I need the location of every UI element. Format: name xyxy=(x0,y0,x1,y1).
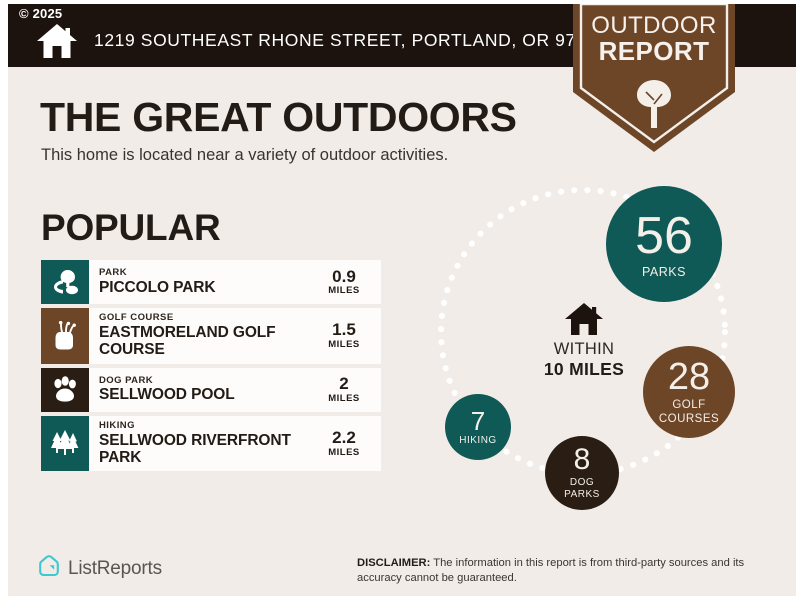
distance-unit: MILES xyxy=(313,285,375,296)
bubble-parks[interactable]: 56 PARKS xyxy=(606,186,722,302)
item-name: SELLWOOD RIVERFRONT PARK xyxy=(99,432,313,467)
distance-unit: MILES xyxy=(313,447,375,458)
distance-value: 2.2 xyxy=(313,429,375,447)
item-category: HIKING xyxy=(99,421,313,432)
bubble-label-line2: PARKS xyxy=(564,489,600,500)
bubble-value: 7 xyxy=(471,408,485,434)
listreports-wordmark: ListReports xyxy=(68,558,162,580)
outdoor-report-badge: OUTDOOR REPORT xyxy=(573,4,735,156)
item-distance: 2 MILES xyxy=(313,375,381,404)
bubble-value: 8 xyxy=(574,445,591,475)
item-category: PARK xyxy=(99,268,313,279)
disclaimer: DISCLAIMER: The information in this repo… xyxy=(357,556,777,586)
popular-list: PARK PICCOLO PARK 0.9 MILES xyxy=(41,260,381,475)
property-address: 1219 SOUTHEAST RHONE STREET, PORTLAND, O… xyxy=(94,30,607,51)
disclaimer-label: DISCLAIMER: xyxy=(357,557,430,569)
item-distance: 1.5 MILES xyxy=(313,321,381,350)
distance-value: 0.9 xyxy=(313,268,375,286)
diagram-center-line1: WITHIN xyxy=(504,340,664,359)
home-icon xyxy=(36,23,78,59)
item-category: DOG PARK xyxy=(99,376,313,387)
bubble-hiking[interactable]: 7 HIKING xyxy=(445,394,511,460)
bubble-label-line1: DOG xyxy=(570,477,594,488)
distance-unit: MILES xyxy=(313,393,375,404)
diagram-center-line2: 10 MILES xyxy=(504,359,664,380)
bubble-label-line1: GOLF xyxy=(672,399,705,411)
page-title: THE GREAT OUTDOORS xyxy=(40,94,517,141)
item-name: PICCOLO PARK xyxy=(99,279,313,296)
list-item[interactable]: HIKING SELLWOOD RIVERFRONT PARK 2.2 MILE… xyxy=(41,416,381,472)
item-category: GOLF COURSE xyxy=(99,313,313,324)
within-10-miles-diagram: 56 PARKS 28 GOLF COURSES 8 DOG PARKS 7 H… xyxy=(428,174,778,524)
bubble-label-line2: COURSES xyxy=(659,413,719,425)
bubble-label: GOLF COURSES xyxy=(659,399,719,425)
bubble-label: DOG PARKS xyxy=(564,477,600,501)
bubble-label: HIKING xyxy=(459,436,496,446)
item-distance: 2.2 MILES xyxy=(313,429,381,458)
item-distance: 0.9 MILES xyxy=(313,268,381,297)
listreports-house-mark-icon xyxy=(38,554,60,583)
distance-unit: MILES xyxy=(313,339,375,350)
item-name: SELLWOOD POOL xyxy=(99,386,313,403)
bubble-value: 56 xyxy=(635,210,693,262)
page-subtitle: This home is located near a variety of o… xyxy=(41,146,448,165)
infographic-page: © 2025 1219 SOUTHEAST RHONE STREET, PORT… xyxy=(0,0,800,600)
listreports-logo[interactable]: ListReports xyxy=(38,554,162,583)
bubble-dog-parks[interactable]: 8 DOG PARKS xyxy=(545,436,619,510)
pine-trees-icon xyxy=(41,416,89,472)
home-icon xyxy=(564,302,604,336)
park-tree-path-icon xyxy=(41,260,89,304)
list-item[interactable]: GOLF COURSE EASTMORELAND GOLF COURSE 1.5… xyxy=(41,308,381,364)
bubble-value: 28 xyxy=(668,358,710,396)
distance-value: 2 xyxy=(313,375,375,393)
distance-value: 1.5 xyxy=(313,321,375,339)
copyright-text: © 2025 xyxy=(19,6,62,21)
list-item[interactable]: PARK PICCOLO PARK 0.9 MILES xyxy=(41,260,381,304)
golf-bag-icon xyxy=(41,308,89,364)
list-item[interactable]: DOG PARK SELLWOOD POOL 2 MILES xyxy=(41,368,381,412)
item-name: EASTMORELAND GOLF COURSE xyxy=(99,324,313,359)
bubble-label: PARKS xyxy=(642,266,686,279)
popular-heading: POPULAR xyxy=(41,207,221,249)
report-canvas: © 2025 1219 SOUTHEAST RHONE STREET, PORT… xyxy=(8,4,796,596)
paw-print-icon xyxy=(41,368,89,412)
